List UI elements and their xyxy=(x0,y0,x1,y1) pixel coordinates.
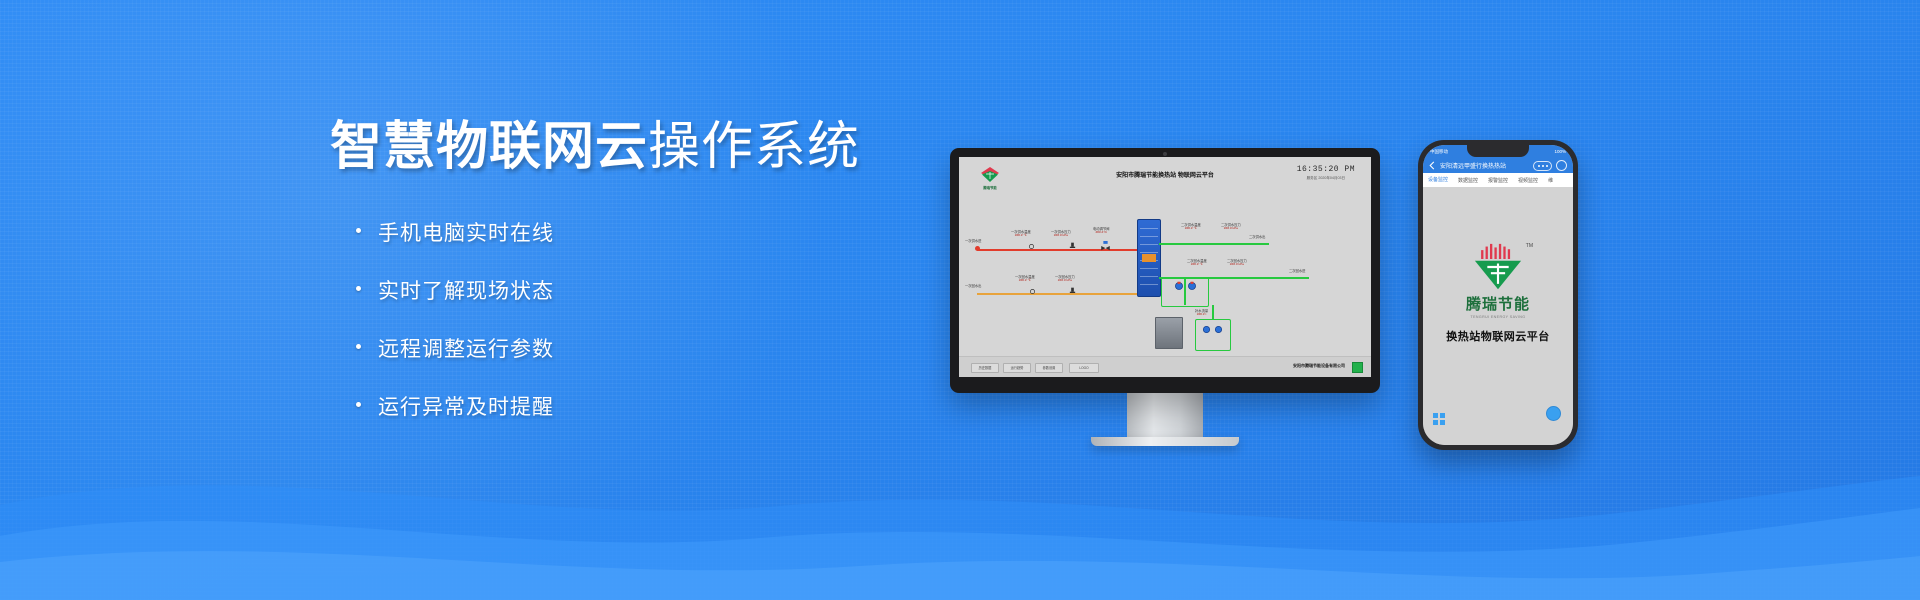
list-item: 远程调整运行参数 xyxy=(356,333,890,363)
pipe-branch xyxy=(1184,277,1186,305)
scada-toolbar: 历史数据 运行趋势 参数设置 LOGO 安阳市腾瑞节能设备有限公司 xyxy=(959,356,1371,377)
heat-exchanger xyxy=(1137,219,1161,297)
monitor-chin xyxy=(959,377,1371,384)
water-tank xyxy=(1155,317,1183,349)
label-secondary-return: 二次回水进 xyxy=(1289,269,1305,273)
app-title: 换热站物联网云平台 xyxy=(1446,328,1550,344)
trademark-label: TM xyxy=(1526,243,1533,249)
sensor-icon xyxy=(1029,288,1036,295)
status-carrier: 中国移动 xyxy=(1430,149,1448,155)
promo-banner: 智慧物联网云操作系统 手机电脑实时在线 实时了解现场状态 远程调整运行参数 运行… xyxy=(0,0,1920,600)
phone-frame: 中国移动 100% 安阳清远甲盛行换热热站 设备监控 数据监控 报警监控 视频监… xyxy=(1418,140,1578,450)
page-title-light: 操作系统 xyxy=(648,118,860,176)
mobile-phone-mockup: 中国移动 100% 安阳清远甲盛行换热热站 设备监控 数据监控 报警监控 视频监… xyxy=(1418,140,1578,450)
page-title: 智慧物联网云操作系统 xyxy=(330,120,890,175)
label-secondary-supply: 二次供水出 xyxy=(1249,235,1265,239)
tag-primary-return-temp: 一次回水温度 ###.# ℃ xyxy=(1015,275,1035,283)
pump-group-makeup xyxy=(1195,319,1231,351)
bullet-dot-icon xyxy=(356,402,361,407)
monitor-stand-neck xyxy=(1127,393,1203,437)
clock-date: 服务区 2020年04月03日 xyxy=(1297,176,1355,181)
pipe-origin-node xyxy=(975,246,980,251)
bullet-dot-icon xyxy=(356,286,361,291)
bullet-dot-icon xyxy=(356,228,361,233)
brand-name: 腾瑞节能 xyxy=(1466,293,1530,314)
label-primary-supply: 一次供水进 xyxy=(965,239,981,243)
scada-logo-text: 腾瑞节能 xyxy=(973,185,1007,190)
scada-title: 安阳市腾瑞节能换热站 物联网云平台 xyxy=(1116,170,1214,179)
list-item: 手机电脑实时在线 xyxy=(356,217,890,247)
pump-icon xyxy=(1202,325,1211,334)
status-badge xyxy=(1352,362,1363,373)
brand-tagline: TENGRUI ENERGY SAVING xyxy=(1471,315,1526,319)
list-item-label: 运行异常及时提醒 xyxy=(378,396,554,419)
pump-icon xyxy=(1187,281,1197,291)
toolbar-button-history[interactable]: 历史数据 xyxy=(971,363,999,373)
phone-tab-bar: 设备监控 数据监控 报警监控 视频监控 维 xyxy=(1423,173,1573,187)
phone-nav-bar: 安阳清远甲盛行换热热站 xyxy=(1423,158,1573,173)
phone-content: TM 腾瑞节能 TENGRUI ENERGY SAVING 换热站物联网云平台 xyxy=(1423,187,1573,445)
tab-alarm-monitor[interactable]: 报警监控 xyxy=(1483,177,1513,184)
label-primary-return: 一次回水出 xyxy=(965,284,981,288)
tab-video-monitor[interactable]: 视频监控 xyxy=(1513,177,1543,184)
desktop-monitor-mockup: 腾瑞节能 安阳市腾瑞节能换热站 物联网云平台 16:35:20 PM 服务区 2… xyxy=(950,148,1380,446)
pipe-primary-return xyxy=(977,293,1137,295)
tag-secondary-supply-press: 二次供水压力 ###.# kPa xyxy=(1221,223,1241,231)
tag-makeup-flow: 补水流量 ###.# t xyxy=(1195,309,1208,317)
pipe-makeup xyxy=(1212,305,1214,319)
toolbar-button-settings[interactable]: 参数设置 xyxy=(1035,363,1063,373)
clock-time: 16:35:20 PM xyxy=(1297,165,1355,174)
tag-primary-return-press: 一次回水压力 ###.# kPa xyxy=(1055,275,1075,283)
pipe-secondary-supply xyxy=(1159,243,1269,245)
phone-screen: 中国移动 100% 安阳清远甲盛行换热热站 设备监控 数据监控 报警监控 视频监… xyxy=(1423,145,1573,445)
headline-block: 智慧物联网云操作系统 手机电脑实时在线 实时了解现场状态 远程调整运行参数 运行… xyxy=(330,120,890,449)
tag-secondary-supply-temp: 二次供水温度 ###.# ℃ xyxy=(1181,223,1201,231)
tab-device-monitor[interactable]: 设备监控 xyxy=(1423,173,1453,187)
status-battery: 100% xyxy=(1554,149,1566,154)
tab-more[interactable]: 维 xyxy=(1543,177,1558,184)
toolbar-button-trend[interactable]: 运行趋势 xyxy=(1003,363,1031,373)
pump-icon xyxy=(1174,281,1184,291)
list-item-label: 远程调整运行参数 xyxy=(378,338,554,361)
feature-list: 手机电脑实时在线 实时了解现场状态 远程调整运行参数 运行异常及时提醒 xyxy=(356,217,890,421)
scada-diagram: 腾瑞节能 安阳市腾瑞节能换热站 物联网云平台 16:35:20 PM 服务区 2… xyxy=(959,157,1371,377)
monitor-stand-base xyxy=(1091,437,1239,446)
list-item: 运行异常及时提醒 xyxy=(356,391,890,421)
tag-secondary-return-temp: 二次回水温度 ###.# ℃ xyxy=(1187,259,1207,267)
list-item: 实时了解现场状态 xyxy=(356,275,890,305)
monitor-bezel: 腾瑞节能 安阳市腾瑞节能换热站 物联网云平台 16:35:20 PM 服务区 2… xyxy=(950,148,1380,393)
tag-secondary-return-press: 二次回水压力 ###.# kPa xyxy=(1227,259,1247,267)
tab-data-monitor[interactable]: 数据监控 xyxy=(1453,177,1483,184)
scada-logo: 腾瑞节能 xyxy=(973,166,1007,190)
page-title-strong: 智慧物联网云 xyxy=(330,118,648,176)
list-item-label: 手机电脑实时在线 xyxy=(378,222,554,245)
sensor-icon xyxy=(1028,243,1035,250)
tag-primary-supply-press: 一次供水压力 ###.# kPa xyxy=(1051,230,1071,238)
webcam-icon xyxy=(1163,152,1167,156)
bullet-dot-icon xyxy=(356,344,361,349)
phone-nav-title: 安阳清远甲盛行换热热站 xyxy=(1440,161,1533,170)
chevron-left-icon[interactable] xyxy=(1429,161,1435,170)
brand-diamond-icon xyxy=(980,166,1000,184)
tag-control-valve: 电动调节阀 ###.# % xyxy=(1093,227,1109,235)
monitor-screen: 腾瑞节能 安阳市腾瑞节能换热站 物联网云平台 16:35:20 PM 服务区 2… xyxy=(959,157,1371,377)
company-name: 安阳市腾瑞节能设备有限公司 xyxy=(1293,363,1345,369)
brand-logo-icon: TM xyxy=(1471,243,1525,291)
toolbar-button-logo[interactable]: LOGO xyxy=(1069,363,1099,373)
tag-primary-supply-temp: 一次供水温度 ###.# ℃ xyxy=(1011,230,1031,238)
list-item-label: 实时了解现场状态 xyxy=(378,280,554,303)
pipe-primary-supply xyxy=(977,249,1137,251)
control-valve-icon xyxy=(1101,241,1110,251)
pump-icon xyxy=(1214,325,1223,334)
close-circle-icon[interactable] xyxy=(1556,160,1567,171)
add-circle-icon[interactable] xyxy=(1546,406,1561,421)
sensor-icon xyxy=(1069,287,1076,295)
phone-notch xyxy=(1467,145,1529,157)
grid-icon[interactable] xyxy=(1433,413,1445,425)
scada-clock: 16:35:20 PM 服务区 2020年04月03日 xyxy=(1297,165,1355,181)
sensor-icon xyxy=(1069,242,1076,250)
more-icon[interactable] xyxy=(1533,161,1552,171)
